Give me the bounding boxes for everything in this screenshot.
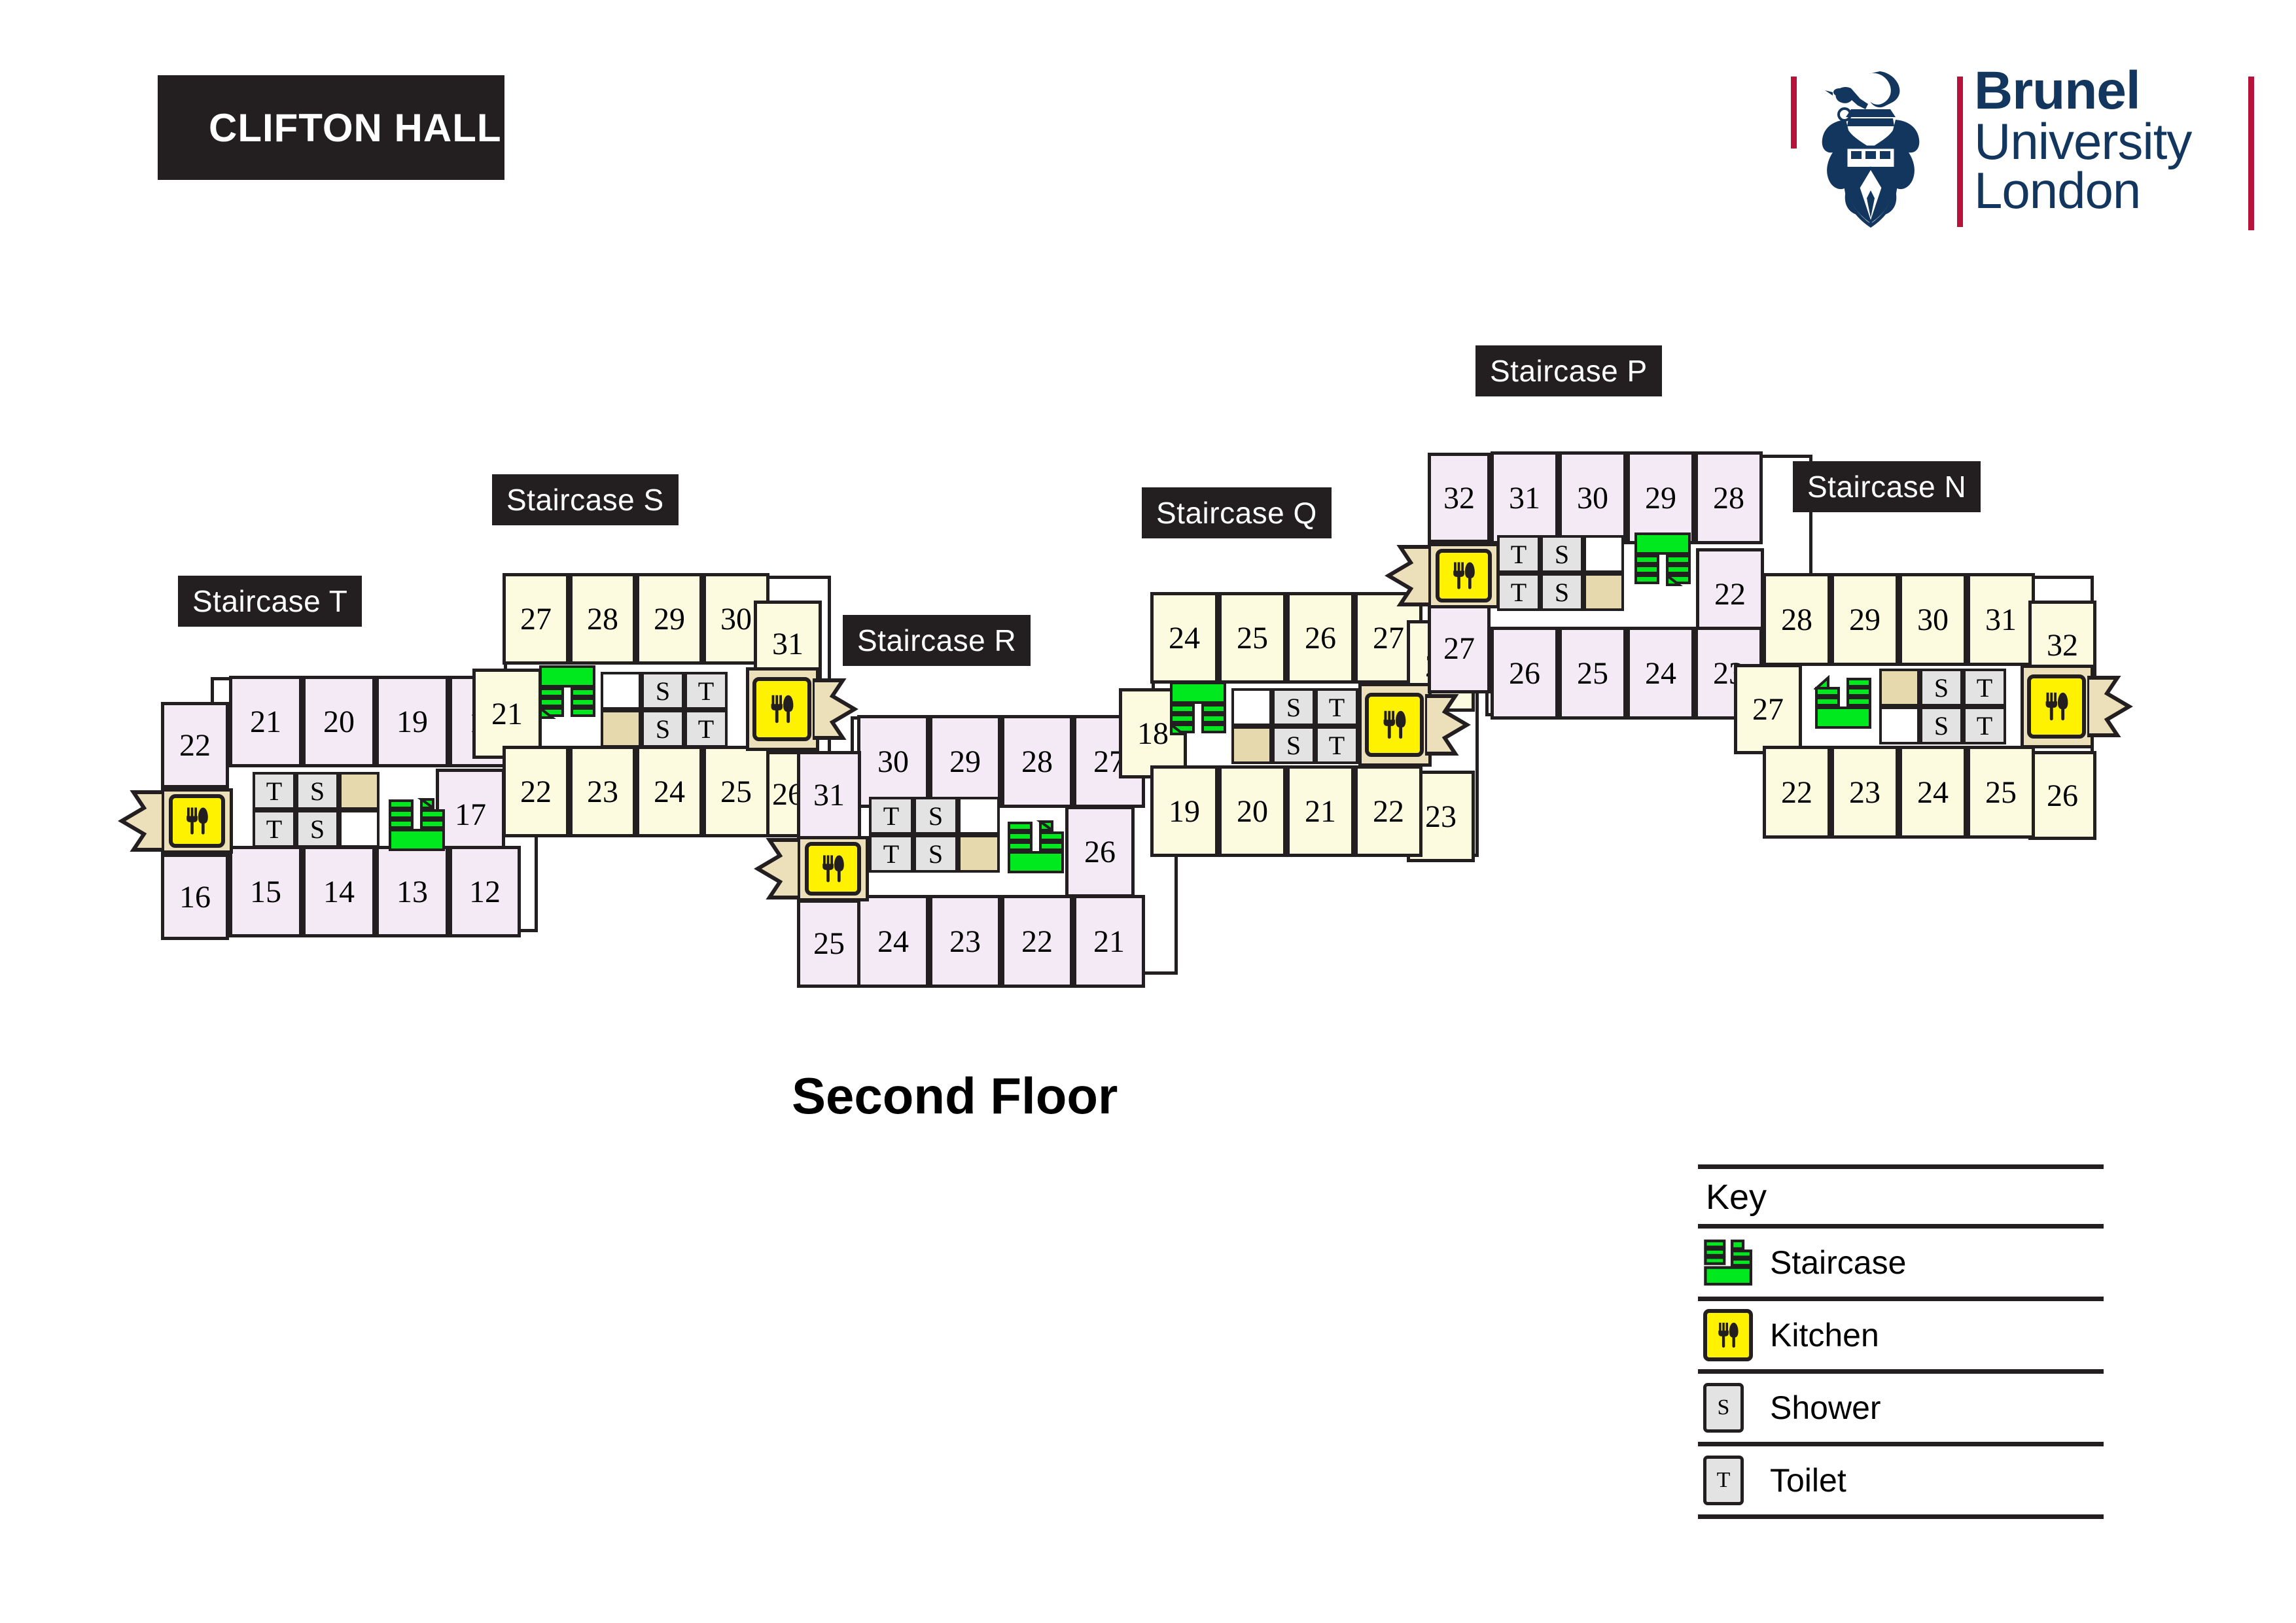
kitchen-icon-t[interactable]	[169, 794, 225, 848]
room-t-13[interactable]: 13	[376, 846, 449, 937]
staircase-icon	[1633, 531, 1693, 587]
room-s-23[interactable]: 23	[569, 746, 636, 837]
room-p-28[interactable]: 28	[1695, 451, 1763, 544]
fork-knife-glyph	[2038, 686, 2075, 727]
shower-icon: S	[1703, 1383, 1744, 1433]
key-divider-bottom	[1698, 1514, 2104, 1519]
room-n-29[interactable]: 29	[1831, 573, 1899, 666]
room-t-19[interactable]: 19	[376, 676, 449, 767]
key-label-toilet: Toilet	[1770, 1461, 1846, 1499]
room-s-25[interactable]: 25	[703, 746, 769, 837]
block-tag-n: Staircase N	[1793, 461, 1981, 512]
facility-s-toilet-1: T	[684, 672, 728, 710]
kitchen-icon-q[interactable]	[1365, 693, 1424, 757]
key-label-shower: Shower	[1770, 1389, 1881, 1427]
staircase-icon	[387, 797, 448, 853]
building-title: CLIFTON HALL	[158, 105, 502, 150]
key-icon-shower-wrap: S	[1698, 1383, 1770, 1433]
key-divider-4	[1698, 1442, 2104, 1446]
room-p-31[interactable]: 31	[1491, 451, 1559, 544]
room-t-12[interactable]: 12	[449, 846, 521, 937]
room-r-29[interactable]: 29	[929, 715, 1001, 808]
kitchen-icon-n[interactable]	[2027, 674, 2086, 739]
room-n-30[interactable]: 30	[1899, 573, 1967, 666]
key-row-kitchen: Kitchen	[1698, 1301, 2104, 1369]
key-icon-staircase-wrap	[1698, 1237, 1770, 1288]
room-t-14[interactable]: 14	[302, 846, 376, 937]
room-q-25[interactable]: 25	[1218, 592, 1286, 684]
facility-r-shower-1: S	[913, 797, 958, 835]
room-t-22[interactable]: 22	[161, 702, 229, 788]
facility-s-store-1	[601, 710, 641, 748]
facility-n-empty-1	[1879, 707, 1920, 744]
staircase-icon	[1814, 675, 1874, 731]
brunel-university-logo: Brunel University London	[1786, 62, 2257, 245]
building-title-block: CLIFTON HALL	[158, 75, 504, 180]
block-tag-p: Staircase P	[1475, 345, 1662, 396]
room-r-24[interactable]: 24	[857, 895, 929, 988]
toilet-icon: T	[1703, 1456, 1744, 1505]
room-q-26[interactable]: 26	[1286, 592, 1354, 684]
room-q-19[interactable]: 19	[1150, 765, 1218, 857]
block-tag-t: Staircase T	[178, 576, 362, 627]
map-key: Key Staircase	[1698, 1164, 2104, 1519]
kitchen-arrow-t	[118, 788, 164, 854]
room-n-25[interactable]: 25	[1967, 746, 2035, 839]
fork-knife-glyph	[763, 689, 801, 729]
kitchen-arrow-p	[1385, 543, 1430, 608]
fork-knife-glyph	[1711, 1318, 1745, 1352]
key-icon-toilet-wrap: T	[1698, 1456, 1770, 1505]
room-n-22[interactable]: 22	[1763, 746, 1831, 839]
facility-r-toilet-2: T	[869, 835, 913, 873]
staircase-icon	[538, 664, 598, 720]
fork-knife-glyph	[179, 803, 215, 839]
room-r-31[interactable]: 31	[797, 751, 861, 839]
facility-q-empty-1	[1231, 688, 1272, 726]
room-p-32[interactable]: 32	[1428, 453, 1491, 543]
logo-wordmark: Brunel University London	[1974, 65, 2191, 215]
key-divider-1	[1698, 1224, 2104, 1229]
facility-p-shower-1: S	[1540, 535, 1583, 573]
facility-t-empty-1	[339, 810, 380, 848]
room-t-20[interactable]: 20	[302, 676, 376, 767]
room-p-22[interactable]: 22	[1696, 548, 1764, 640]
key-icon-kitchen-wrap	[1698, 1309, 1770, 1361]
fork-knife-glyph	[815, 850, 851, 887]
kitchen-arrow-n	[2087, 674, 2133, 739]
room-s-22[interactable]: 22	[503, 746, 569, 837]
facility-s-empty-1	[601, 672, 641, 710]
room-s-27[interactable]: 27	[503, 573, 569, 665]
room-p-30[interactable]: 30	[1559, 451, 1627, 544]
facility-q-store-1	[1231, 726, 1272, 764]
coat-of-arms-icon	[1805, 69, 1936, 236]
room-q-21[interactable]: 21	[1286, 765, 1354, 857]
facility-t-toilet-1: T	[253, 772, 296, 810]
room-r-26[interactable]: 26	[1065, 806, 1135, 898]
block-tag-q: Staircase Q	[1142, 487, 1332, 538]
room-s-28[interactable]: 28	[569, 573, 636, 665]
room-r-21[interactable]: 21	[1073, 895, 1145, 988]
key-row-toilet: T Toilet	[1698, 1446, 2104, 1514]
kitchen-icon-p[interactable]	[1436, 549, 1492, 602]
facility-p-store-1	[1583, 573, 1624, 611]
facility-p-toilet-2: T	[1497, 573, 1540, 611]
logo-rule-middle	[1957, 77, 1963, 227]
logo-line-brunel: Brunel	[1974, 65, 2191, 117]
room-n-23[interactable]: 23	[1831, 746, 1899, 839]
facility-q-shower-1: S	[1272, 688, 1315, 726]
facility-p-toilet-1: T	[1497, 535, 1540, 573]
facility-s-shower-2: S	[641, 710, 684, 748]
room-r-22[interactable]: 22	[1001, 895, 1073, 988]
facility-n-shower-2: S	[1920, 707, 1963, 744]
kitchen-arrow-r	[754, 836, 800, 901]
room-s-29[interactable]: 29	[636, 573, 703, 665]
facility-t-shower-2: S	[296, 810, 339, 848]
key-label-staircase: Staircase	[1770, 1244, 1906, 1282]
block-tag-r: Staircase R	[843, 615, 1031, 666]
room-r-30[interactable]: 30	[857, 715, 929, 808]
facility-t-toilet-2: T	[253, 810, 296, 848]
room-n-24[interactable]: 24	[1899, 746, 1967, 839]
facility-r-store-1	[958, 835, 1000, 873]
room-n-31[interactable]: 31	[1967, 573, 2035, 666]
room-n-28[interactable]: 28	[1763, 573, 1831, 666]
room-t-15[interactable]: 15	[229, 846, 302, 937]
facility-r-toilet-1: T	[869, 797, 913, 835]
facility-p-shower-2: S	[1540, 573, 1583, 611]
logo-rule-left	[1791, 77, 1797, 148]
facility-n-store-1	[1879, 669, 1920, 707]
facility-s-toilet-2: T	[684, 710, 728, 748]
key-divider-2	[1698, 1297, 2104, 1301]
kitchen-icon-s[interactable]	[752, 677, 811, 741]
room-q-20[interactable]: 20	[1218, 765, 1286, 857]
room-s-24[interactable]: 24	[636, 746, 703, 837]
facility-p-empty-1	[1583, 535, 1624, 573]
block-tag-s: Staircase S	[492, 474, 679, 525]
kitchen-arrow-q	[1425, 692, 1471, 758]
facility-n-toilet-2: T	[1963, 707, 2006, 744]
key-row-shower: S Shower	[1698, 1374, 2104, 1442]
key-title: Key	[1698, 1169, 2104, 1224]
key-label-kitchen: Kitchen	[1770, 1316, 1879, 1354]
fork-knife-glyph	[1445, 557, 1482, 594]
room-r-23[interactable]: 23	[929, 895, 1001, 988]
facility-q-toilet-1: T	[1315, 688, 1358, 726]
logo-line-london: London	[1974, 166, 2191, 215]
staircase-icon	[1703, 1237, 1754, 1288]
room-r-25[interactable]: 25	[797, 899, 861, 988]
facility-q-shower-2: S	[1272, 726, 1315, 764]
staircase-icon	[1169, 680, 1229, 737]
fork-knife-glyph	[1375, 705, 1413, 745]
facility-n-toilet-1: T	[1963, 669, 2006, 707]
key-divider-3	[1698, 1369, 2104, 1374]
kitchen-icon	[1703, 1309, 1753, 1361]
key-divider-top	[1698, 1164, 2104, 1169]
facility-s-shower-1: S	[641, 672, 684, 710]
room-n-27[interactable]: 27	[1734, 664, 1802, 754]
room-p-29[interactable]: 29	[1627, 451, 1695, 544]
room-p-27[interactable]: 27	[1428, 603, 1491, 693]
logo-rule-right	[2248, 77, 2254, 230]
facility-t-shower-1: S	[296, 772, 339, 810]
room-r-28[interactable]: 28	[1001, 715, 1073, 808]
kitchen-icon-r[interactable]	[805, 842, 861, 896]
room-p-26[interactable]: 26	[1491, 627, 1559, 720]
facility-q-toilet-2: T	[1315, 726, 1358, 764]
facility-n-shower-1: S	[1920, 669, 1963, 707]
room-q-24[interactable]: 24	[1150, 592, 1218, 684]
page-title: Second Floor	[792, 1066, 1118, 1126]
room-t-21[interactable]: 21	[229, 676, 302, 767]
facility-r-empty-1	[958, 797, 1000, 835]
room-t-16[interactable]: 16	[161, 854, 229, 940]
facility-r-shower-2: S	[913, 835, 958, 873]
room-q-22[interactable]: 22	[1354, 765, 1422, 857]
key-row-staircase: Staircase	[1698, 1229, 2104, 1297]
room-p-24[interactable]: 24	[1627, 627, 1695, 720]
logo-line-university: University	[1974, 117, 2191, 166]
facility-t-store-1	[339, 772, 380, 810]
room-p-25[interactable]: 25	[1559, 627, 1627, 720]
room-n-26[interactable]: 26	[2028, 751, 2096, 840]
staircase-icon	[1006, 819, 1067, 875]
